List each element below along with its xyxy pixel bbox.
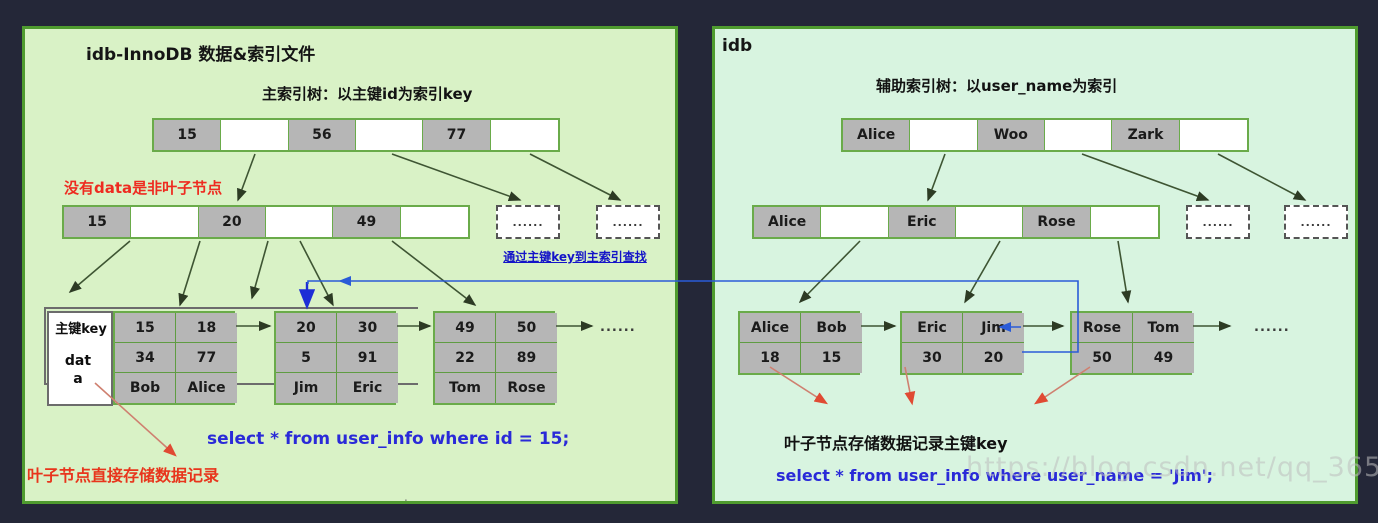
node-cell-key: 20 bbox=[199, 207, 266, 237]
right-dashed-node-2: ...... bbox=[1284, 205, 1348, 239]
leaf-cell: Jim bbox=[963, 313, 1024, 343]
node-cell-pointer bbox=[131, 207, 198, 237]
annotation-leaf-stores-primary-key: 叶子节点存储数据记录主键key bbox=[784, 430, 1008, 454]
leaf-cell: Tom bbox=[435, 373, 496, 403]
leaf-cell: 15 bbox=[115, 313, 176, 343]
annotation-leaf-stores-data: 叶子节点直接存储数据记录 bbox=[27, 462, 219, 486]
right-level2-node[interactable]: Alice Eric Rose bbox=[752, 205, 1160, 239]
leaf-cell: 15 bbox=[801, 343, 862, 373]
leaf-cell: Eric bbox=[337, 373, 398, 403]
leaf-cell: 20 bbox=[276, 313, 337, 343]
leaf-cell: Bob bbox=[801, 313, 862, 343]
node-cell-pointer bbox=[266, 207, 333, 237]
leaf-cell: 49 bbox=[1133, 343, 1194, 373]
leaf-cell: Eric bbox=[902, 313, 963, 343]
leaf-cell: 22 bbox=[435, 343, 496, 373]
node-cell-key: 56 bbox=[289, 120, 356, 150]
node-cell-key: Woo bbox=[978, 120, 1045, 150]
left-leaf-node-1[interactable]: 15 18 34 77 Bob Alice bbox=[113, 311, 235, 405]
node-cell-pointer bbox=[1091, 207, 1158, 237]
leaf-legend-key-label: 主键key bbox=[50, 318, 112, 337]
leaf-cell: 77 bbox=[176, 343, 237, 373]
right-leaf-node-3[interactable]: Rose Tom 50 49 bbox=[1070, 311, 1192, 375]
leaf-cell: Rose bbox=[1072, 313, 1133, 343]
node-cell-key: 77 bbox=[423, 120, 490, 150]
node-cell-key: 15 bbox=[154, 120, 221, 150]
right-root-node[interactable]: Alice Woo Zark bbox=[841, 118, 1249, 152]
node-cell-key: 49 bbox=[333, 207, 400, 237]
node-cell-key: Alice bbox=[843, 120, 910, 150]
diagram-canvas: idb-InnoDB 数据&索引文件 主索引树：以主键id为索引key 15 5… bbox=[0, 0, 1378, 523]
node-cell-pointer bbox=[221, 120, 288, 150]
node-cell-key: 15 bbox=[64, 207, 131, 237]
left-leaf-node-2[interactable]: 20 30 5 91 Jim Eric bbox=[274, 311, 396, 405]
node-cell-pointer bbox=[956, 207, 1023, 237]
leaf-cell: 5 bbox=[276, 343, 337, 373]
right-leaf-node-2[interactable]: Eric Jim 30 20 bbox=[900, 311, 1022, 375]
bottom-tick-mark: . bbox=[404, 490, 408, 504]
leaf-cell: 50 bbox=[1072, 343, 1133, 373]
panel-left-title: idb-InnoDB 数据&索引文件 bbox=[86, 40, 315, 65]
secondary-tree-heading: 辅助索引树：以user_name为索引 bbox=[876, 75, 1117, 96]
left-dashed-node-2: ...... bbox=[596, 205, 660, 239]
leaf-cell: Alice bbox=[176, 373, 237, 403]
node-cell-pointer bbox=[1045, 120, 1112, 150]
annotation-non-leaf-node: 没有data是非叶子节点 bbox=[64, 177, 222, 198]
panel-right-title: idb bbox=[722, 36, 752, 56]
leaf-cell: 30 bbox=[337, 313, 398, 343]
sql-primary-index: select * from user_info where id = 15; bbox=[207, 429, 569, 449]
leaf-legend-data-label: data bbox=[50, 352, 106, 388]
left-root-node[interactable]: 15 56 77 bbox=[152, 118, 560, 152]
primary-tree-heading: 主索引树：以主键id为索引key bbox=[262, 83, 472, 104]
left-leaf-trailing-ellipsis: ...... bbox=[600, 320, 636, 335]
node-cell-key: Alice bbox=[754, 207, 821, 237]
node-cell-pointer bbox=[1180, 120, 1247, 150]
leaf-cell: 18 bbox=[176, 313, 237, 343]
leaf-cell: 91 bbox=[337, 343, 398, 373]
right-leaf-node-1[interactable]: Alice Bob 18 15 bbox=[738, 311, 860, 375]
node-cell-pointer bbox=[401, 207, 468, 237]
leaf-cell: 20 bbox=[963, 343, 1024, 373]
left-leaf-node-3[interactable]: 49 50 22 89 Tom Rose bbox=[433, 311, 555, 405]
watermark: https://blog.csdn.net/qq_36551991 bbox=[966, 452, 1378, 483]
leaf-cell: 34 bbox=[115, 343, 176, 373]
node-cell-pointer bbox=[491, 120, 558, 150]
annotation-lookup-via-primary-key: 通过主键key到主索引查找 bbox=[480, 250, 670, 265]
leaf-cell: Rose bbox=[496, 373, 557, 403]
leaf-cell: Jim bbox=[276, 373, 337, 403]
leaf-cell: 49 bbox=[435, 313, 496, 343]
leaf-cell: Alice bbox=[740, 313, 801, 343]
leaf-cell: Tom bbox=[1133, 313, 1194, 343]
node-cell-pointer bbox=[821, 207, 888, 237]
node-cell-pointer bbox=[910, 120, 977, 150]
leaf-cell: 18 bbox=[740, 343, 801, 373]
node-cell-key: Rose bbox=[1023, 207, 1090, 237]
right-leaf-trailing-ellipsis: ...... bbox=[1254, 320, 1290, 335]
left-level2-node[interactable]: 15 20 49 bbox=[62, 205, 470, 239]
node-cell-key: Zark bbox=[1112, 120, 1179, 150]
left-dashed-node-1: ...... bbox=[496, 205, 560, 239]
leaf-cell: 50 bbox=[496, 313, 557, 343]
right-dashed-node-1: ...... bbox=[1186, 205, 1250, 239]
node-cell-key: Eric bbox=[889, 207, 956, 237]
leaf-cell: Bob bbox=[115, 373, 176, 403]
node-cell-pointer bbox=[356, 120, 423, 150]
leaf-cell: 89 bbox=[496, 343, 557, 373]
leaf-cell: 30 bbox=[902, 343, 963, 373]
